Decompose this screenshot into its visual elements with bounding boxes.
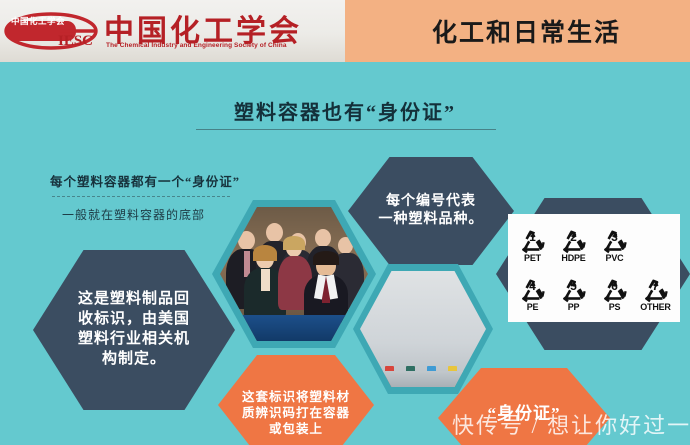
recycling-codes-grid: 1 PET 2: [508, 214, 680, 322]
recycling-code-item: 1 PET: [512, 220, 553, 269]
recycling-code-item: 7 OTHER: [635, 269, 676, 318]
recycling-code-number: 5: [557, 279, 591, 293]
callout-numbering-line1: 每个编号代表: [379, 193, 484, 211]
recycling-code-number: 6: [598, 279, 632, 293]
callout-numbering: 每个编号代表 一种塑料品种。: [348, 157, 514, 265]
logo-english-name: The Chemical Industry and Engineering So…: [106, 42, 287, 49]
callout-marking-method: 这套标识将塑料材 质辨识码打在容器 或包装上: [218, 355, 374, 445]
callout-statement-line3: 塑料行业相关机: [78, 330, 190, 350]
callout-orange-line3: 或包装上: [242, 421, 350, 437]
recycling-code-number: 1: [516, 230, 550, 244]
callout-statement-line4: 构制定。: [78, 350, 190, 370]
annotation-primary: 每个塑料容器都有一个“身份证”: [50, 171, 240, 190]
recycling-codes-spacer: [635, 220, 676, 269]
slide-title: 塑料容器也有“身份证”: [0, 96, 690, 125]
callout-numbering-line2: 一种塑料品种。: [379, 211, 484, 229]
watermark-text: 快传号 / 想让你好过一点: [452, 408, 690, 440]
recycling-code-number: 2: [557, 230, 591, 244]
slide-page: 中国化工学会 IESC 中国化工学会 The Chemical Industry…: [0, 0, 690, 445]
callout-orange-line2: 质辨识码打在容器: [242, 405, 350, 421]
recycle-triangle-icon: 3: [598, 227, 632, 254]
callout-statement-line2: 收标识，由美国: [78, 310, 190, 330]
recycle-triangle-icon: 6: [598, 276, 632, 303]
title-divider: [196, 129, 496, 130]
recycle-triangle-icon: 2: [557, 227, 591, 254]
logo-badge-text: 中国化工学会: [8, 15, 68, 28]
recycling-code-number: 4: [516, 279, 550, 293]
recycle-triangle-icon: 5: [557, 276, 591, 303]
logo-abbrev: IESC: [58, 33, 93, 50]
callout-orange-line1: 这套标识将塑料材: [242, 389, 350, 405]
recycle-triangle-icon: 1: [516, 227, 550, 254]
recycling-code-item: 5 PP: [553, 269, 594, 318]
page-title: 化工和日常生活: [345, 0, 690, 62]
recycling-code-number: 7: [639, 279, 673, 293]
header-bar: 中国化工学会 IESC 中国化工学会 The Chemical Industry…: [0, 0, 690, 62]
annotation-secondary: 一般就在塑料容器的底部: [62, 206, 205, 223]
recycling-codes-panel: 1 PET 2: [508, 214, 680, 322]
recycling-code-number: 3: [598, 230, 632, 244]
recycle-triangle-icon: 7: [639, 276, 673, 303]
recycling-code-item: 4 PE: [512, 269, 553, 318]
callout-statement-line1: 这是塑料制品回: [78, 290, 190, 310]
recycling-code-item: 6 PS: [594, 269, 635, 318]
recycling-code-item: 3 PVC: [594, 220, 635, 269]
callout-statement: 这是塑料制品回 收标识，由美国 塑料行业相关机 构制定。: [33, 250, 235, 410]
recycle-triangle-icon: 4: [516, 276, 550, 303]
annotation-divider: [52, 196, 230, 197]
recycling-code-item: 2 HDPE: [553, 220, 594, 269]
